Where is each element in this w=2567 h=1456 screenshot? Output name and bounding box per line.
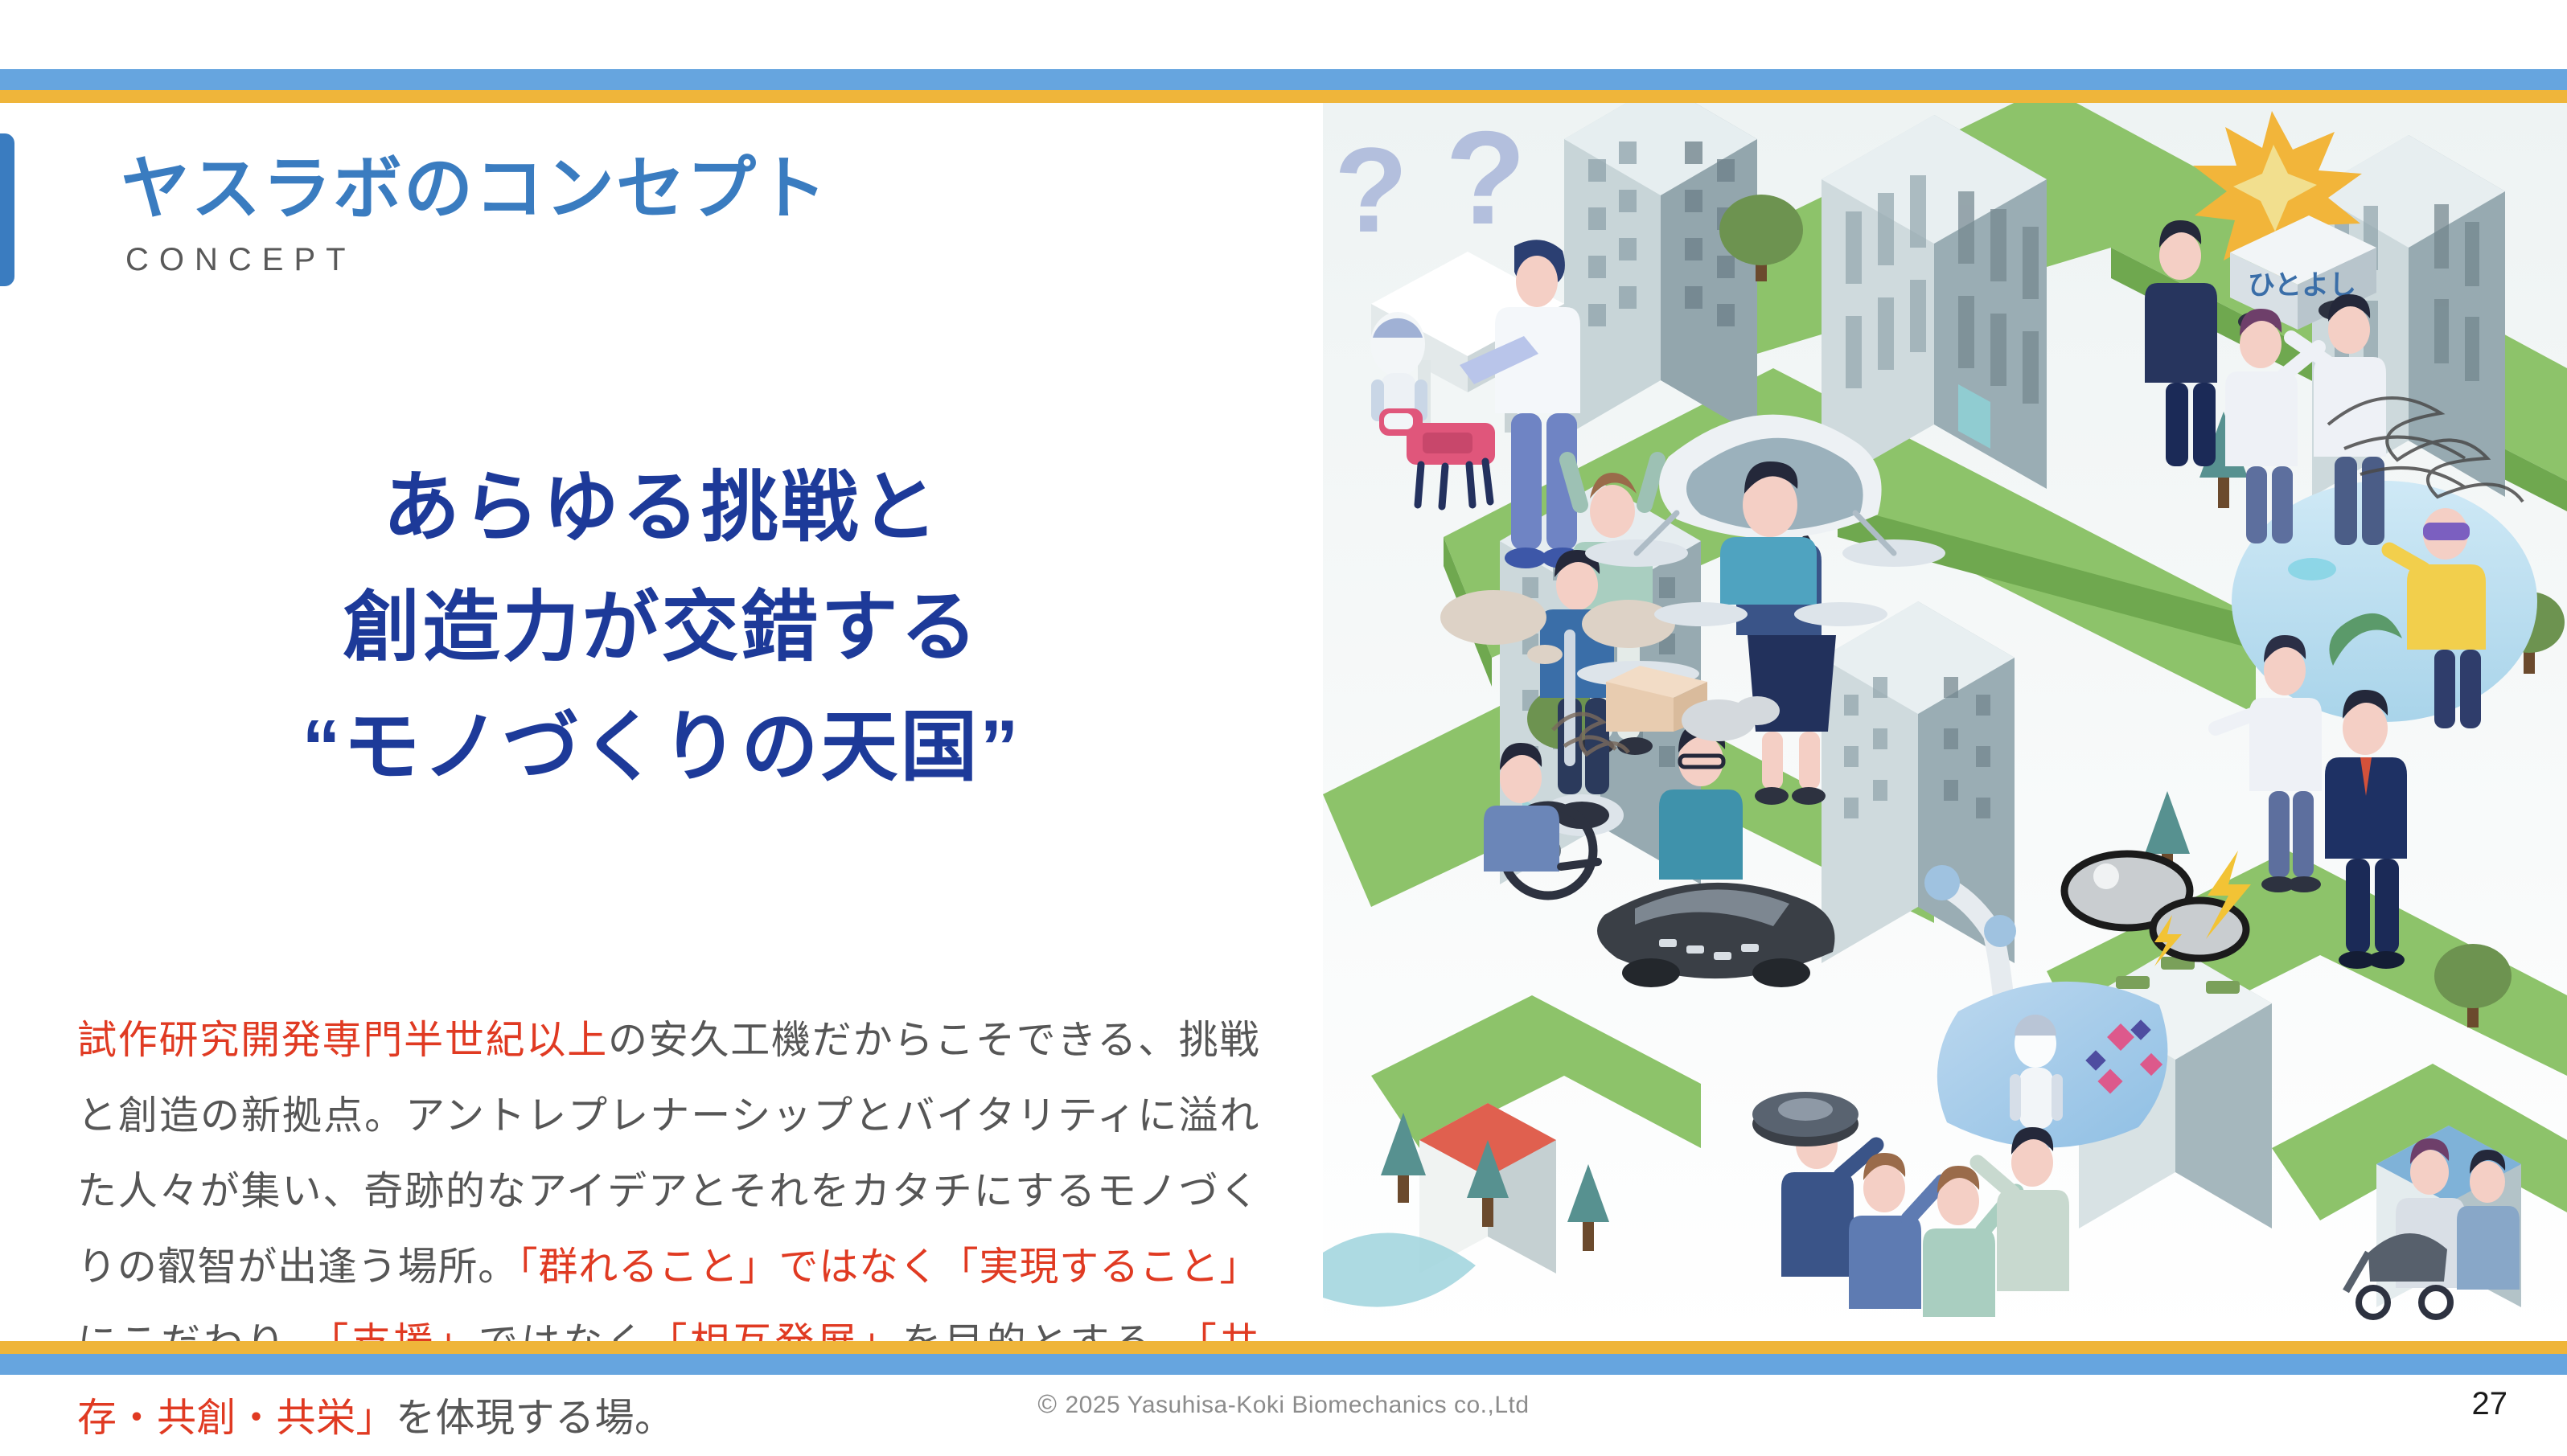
border-top-blue-bar bbox=[0, 69, 2567, 90]
robot-vacuum-icon bbox=[1752, 1092, 1859, 1146]
headline: あらゆる挑戦と 創造力が交錯する “モノづくりの天国” bbox=[0, 449, 1323, 807]
slide-footer: ©2025 Yasuhisa-Koki Biomechanics co.,Ltd… bbox=[0, 1375, 2567, 1444]
body-segment-3: にこだわり、 bbox=[77, 1321, 329, 1364]
border-corner-top-right bbox=[2470, 69, 2567, 103]
body-segment-7: を目的とする。 bbox=[902, 1321, 1197, 1364]
headline-line-1: あらゆる挑戦と bbox=[0, 449, 1323, 568]
body-segment-2: 「群れること」ではなく「実現すること」 bbox=[518, 1245, 1259, 1289]
border-corner-bottom-right bbox=[2470, 1341, 2567, 1375]
title-block: ヤスラボのコンセプト CONCEPT bbox=[121, 151, 828, 278]
page-title: ヤスラボのコンセプト bbox=[121, 151, 828, 228]
svg-text:?: ? bbox=[1334, 122, 1408, 257]
body-segment-0: 試作研究開発専門半世紀以上 bbox=[77, 1019, 608, 1062]
headline-line-3: “モノづくりの天国” bbox=[0, 688, 1323, 808]
content-column: ヤスラボのコンセプト CONCEPT あらゆる挑戦と 創造力が交錯する “モノづ… bbox=[0, 103, 1323, 1341]
body-segment-4: 「支援」 bbox=[329, 1321, 478, 1364]
body-segment-5: ではなく bbox=[478, 1321, 648, 1364]
isometric-city-illustration: ? ? ? bbox=[1323, 103, 2567, 1341]
body-segment-6: 「相互発展」 bbox=[648, 1321, 902, 1364]
concept-illustration: ? ? ? bbox=[1323, 103, 2567, 1341]
page-subtitle: CONCEPT bbox=[125, 242, 828, 278]
border-top-yellow-bar bbox=[0, 90, 2567, 103]
copyright-icon: © bbox=[1037, 1389, 1057, 1418]
copyright-text: 2025 Yasuhisa-Koki Biomechanics co.,Ltd bbox=[1066, 1392, 1530, 1418]
title-accent-bar bbox=[0, 133, 14, 286]
svg-text:?: ? bbox=[1445, 104, 1526, 252]
copyright-notice: ©2025 Yasuhisa-Koki Biomechanics co.,Ltd bbox=[0, 1389, 2567, 1419]
page-number: 27 bbox=[2472, 1386, 2508, 1422]
headline-line-2: 創造力が交錯する bbox=[0, 568, 1323, 688]
